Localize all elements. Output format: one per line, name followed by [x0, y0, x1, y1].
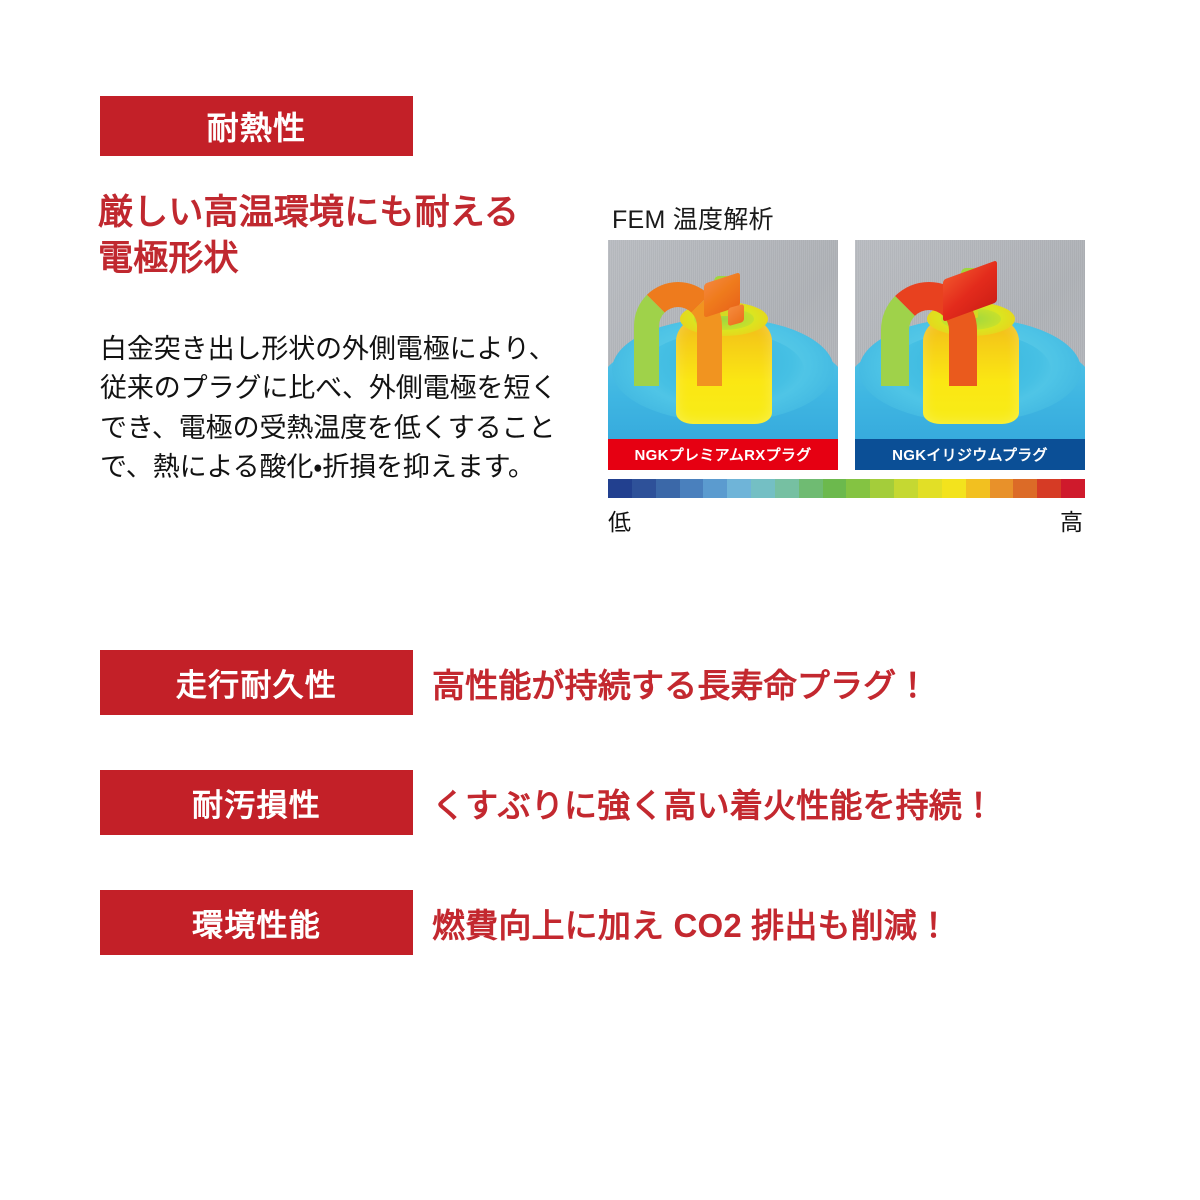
temperature-scale-swatch-16 [990, 479, 1014, 498]
temperature-scale-swatch-10 [846, 479, 870, 498]
feature-tag-driving-durability-label: 走行耐久性 [176, 660, 337, 705]
temperature-scale-swatch-15 [966, 479, 990, 498]
section-tag-heat-resistance: 耐熱性 [100, 96, 413, 156]
fem-analysis-label: FEM 温度解析 [612, 200, 774, 236]
feature-tag-driving-durability: 走行耐久性 [100, 650, 413, 715]
temperature-scale-swatch-7 [775, 479, 799, 498]
fem-caption-premium-rx: NGKプレミアムRXプラグ [608, 439, 838, 470]
temperature-scale-high-label: 高 [1060, 503, 1083, 537]
heat-body-line-1: 白金突き出し形状の外側電極により、 [100, 330, 592, 369]
ground-electrode-nub [728, 304, 744, 327]
temperature-scale-swatch-6 [751, 479, 775, 498]
temperature-scale-swatch-5 [727, 479, 751, 498]
feature-tag-environmental-performance-label: 環境性能 [192, 900, 321, 945]
temperature-scale-swatch-4 [703, 479, 727, 498]
temperature-scale-swatch-12 [894, 479, 918, 498]
temperature-scale-swatch-2 [656, 479, 680, 498]
fem-caption-premium-rx-label: NGKプレミアムRXプラグ [634, 444, 811, 465]
plug-ground-electrode [630, 264, 748, 382]
heat-body-copy: 白金突き出し形状の外側電極により、 従来のプラグに比べ、外側電極を短く でき、電… [100, 330, 592, 488]
temperature-scale-swatch-9 [823, 479, 847, 498]
temperature-color-scale [608, 479, 1085, 498]
heat-body-line-3: でき、電極の受熱温度を低くすること [100, 409, 592, 448]
fem-image-iridium [855, 240, 1085, 470]
heat-subheading-line-2: 電極形状 [98, 236, 618, 282]
feature-text-fouling-resistance-label: くすぶりに強く高い着火性能を持続！ [432, 779, 995, 827]
feature-tag-fouling-resistance-label: 耐汚損性 [192, 780, 321, 825]
heat-subheading: 厳しい高温環境にも耐える 電極形状 [98, 190, 618, 281]
temperature-scale-swatch-1 [632, 479, 656, 498]
feature-text-environmental-performance-label: 燃費向上に加え CO2 排出も削減！ [432, 899, 950, 947]
fem-caption-iridium: NGKイリジウムプラグ [855, 439, 1085, 470]
feature-text-environmental-performance: 燃費向上に加え CO2 排出も削減！ [432, 890, 1072, 955]
temperature-scale-swatch-8 [799, 479, 823, 498]
heat-body-line-2: 従来のプラグに比べ、外側電極を短く [100, 369, 592, 408]
temperature-scale-swatch-14 [942, 479, 966, 498]
temperature-scale-swatch-0 [608, 479, 632, 498]
feature-text-driving-durability-label: 高性能が持続する長寿命プラグ！ [432, 659, 929, 707]
feature-tag-environmental-performance: 環境性能 [100, 890, 413, 955]
temperature-scale-swatch-19 [1061, 479, 1085, 498]
feature-text-fouling-resistance: くすぶりに強く高い着火性能を持続！ [432, 770, 1072, 835]
temperature-scale-swatch-11 [870, 479, 894, 498]
fem-image-premium-rx [608, 240, 838, 470]
temperature-scale-swatch-17 [1013, 479, 1037, 498]
heat-subheading-line-1: 厳しい高温環境にも耐える [98, 190, 618, 236]
feature-text-driving-durability: 高性能が持続する長寿命プラグ！ [432, 650, 1072, 715]
temperature-scale-swatch-13 [918, 479, 942, 498]
section-tag-heat-resistance-label: 耐熱性 [207, 103, 307, 149]
feature-tag-fouling-resistance: 耐汚損性 [100, 770, 413, 835]
heat-body-line-4: で、熱による酸化・折損を抑えます。 [100, 448, 592, 487]
temperature-scale-swatch-3 [680, 479, 704, 498]
temperature-scale-swatch-18 [1037, 479, 1061, 498]
temperature-scale-low-label: 低 [608, 503, 631, 537]
fem-caption-iridium-label: NGKイリジウムプラグ [892, 444, 1048, 465]
plug-ground-electrode [877, 264, 995, 382]
